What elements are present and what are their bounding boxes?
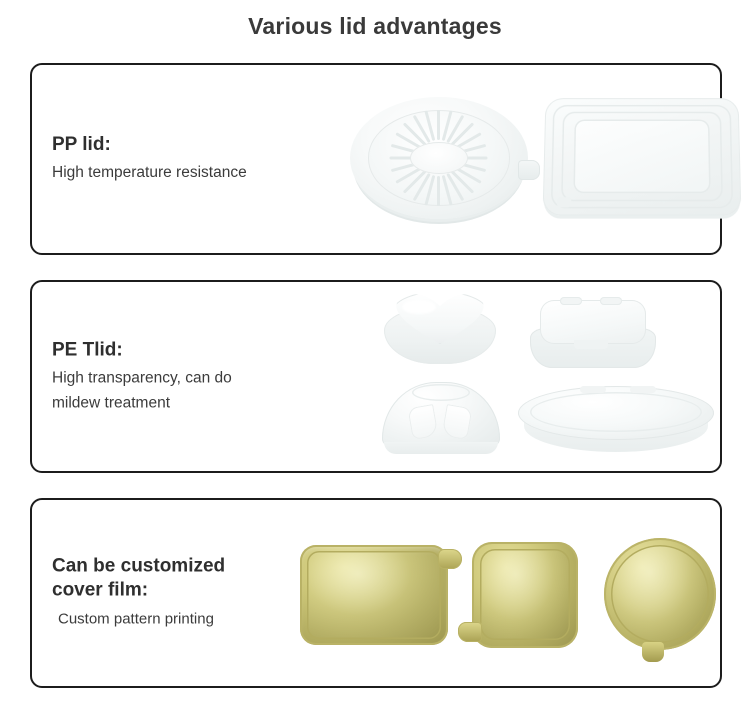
gold-rect-inner-panel xyxy=(307,551,441,639)
page-title: Various lid advantages xyxy=(0,0,750,40)
pe-lid-description: High transparency, can do mildew treatme… xyxy=(52,365,337,415)
gold-circle-pull-tab xyxy=(642,642,664,662)
pe-square-lid-image xyxy=(530,296,656,368)
card-pp-lid: PP lid: High temperature resistance xyxy=(30,63,722,255)
pp-round-lid-center xyxy=(410,142,468,174)
pe-dome-lid-top-ring xyxy=(412,384,470,401)
pp-round-lid-image xyxy=(350,97,528,219)
pe-oval-lid-nub-left xyxy=(580,386,606,393)
gold-square-foil-lid-image xyxy=(472,542,578,648)
pp-lid-text-block: PP lid: High temperature resistance xyxy=(52,133,337,185)
cover-film-heading: Can be customized cover film: xyxy=(52,555,337,603)
pp-lid-figures xyxy=(332,65,716,253)
pe-oval-lid-nub-right xyxy=(630,386,656,393)
pe-oval-lid-inner-ring xyxy=(530,392,702,432)
gold-rectangular-foil-lid-image xyxy=(300,545,448,645)
pe-lid-text-block: PE Tlid: High transparency, can do milde… xyxy=(52,338,337,415)
pe-square-lid-top xyxy=(540,300,646,344)
pe-square-lid-nub-left xyxy=(560,297,582,305)
pe-heart-lid-image xyxy=(380,292,500,370)
gold-round-foil-lid-image xyxy=(604,538,716,650)
pp-lid-heading: PP lid: xyxy=(52,133,337,156)
card-pe-lid: PE Tlid: High transparency, can do milde… xyxy=(30,280,722,473)
gold-square-inner-panel xyxy=(480,549,570,640)
cover-film-text-block: Can be customized cover film: Custom pat… xyxy=(52,555,337,632)
pp-round-lid-tab xyxy=(518,160,540,180)
pp-lid-description: High temperature resistance xyxy=(52,160,337,185)
gold-rect-pull-tab xyxy=(438,549,462,569)
pe-lid-figures xyxy=(332,282,716,471)
cover-film-description: Custom pattern printing xyxy=(52,607,337,632)
cover-film-figures xyxy=(332,500,716,686)
gold-circle-inner-panel xyxy=(611,545,709,643)
pe-lid-heading: PE Tlid: xyxy=(52,338,337,361)
pp-rect-notch xyxy=(557,197,571,207)
pe-dome-lid-rim xyxy=(384,442,498,454)
pe-square-lid-nub-right xyxy=(600,297,622,305)
card-cover-film: Can be customized cover film: Custom pat… xyxy=(30,498,722,688)
pe-dome-lid-image xyxy=(382,382,500,454)
pe-oval-lid-image xyxy=(518,386,714,456)
pe-square-lid-nub-bottom xyxy=(574,340,608,349)
pe-heart-lid-highlight xyxy=(402,300,436,314)
pp-rect-ring-inner xyxy=(573,120,710,194)
pp-rectangular-lid-image xyxy=(543,98,742,215)
gold-square-pull-tab xyxy=(458,622,482,642)
